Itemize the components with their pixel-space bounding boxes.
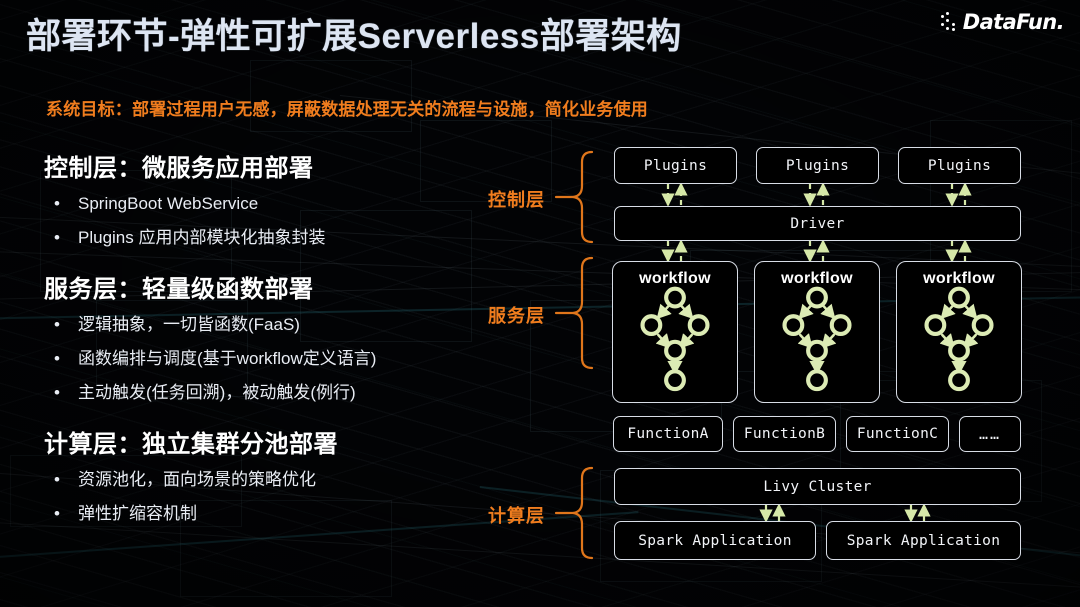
node-spark-application-2[interactable]: Spark Application [826,521,1021,560]
node-label: Plugins [644,158,707,174]
node-label: FunctionA [627,426,708,442]
node-label: Plugins [786,158,849,174]
node-livy-cluster[interactable]: Livy Cluster [614,468,1021,505]
layer-label-control: 控制层 [488,186,545,212]
node-workflow-2[interactable]: workflow [754,261,880,403]
node-label: FunctionB [744,426,825,442]
node-label: Spark Application [638,533,792,549]
node-plugins-1[interactable]: Plugins [614,147,737,184]
node-label: …… [979,425,1001,443]
workflow-dag-icon [755,262,879,402]
node-workflow-3[interactable]: workflow [896,261,1022,403]
node-driver[interactable]: Driver [614,206,1021,241]
layer-label-compute: 计算层 [488,502,545,528]
node-plugins-2[interactable]: Plugins [756,147,879,184]
architecture-diagram: 控制层 服务层 计算层 Plugins Plugins Plugins Driv… [0,0,1080,607]
node-function-c[interactable]: FunctionC [846,416,949,452]
node-workflow-1[interactable]: workflow [612,261,738,403]
node-function-more[interactable]: …… [959,416,1021,452]
node-label: Plugins [928,158,991,174]
slide-canvas: 部署环节-弹性可扩展Serverless部署架构 DataFun. 系统目标：部… [0,0,1080,607]
node-spark-application-1[interactable]: Spark Application [614,521,816,560]
node-label: Livy Cluster [763,479,871,495]
node-function-b[interactable]: FunctionB [733,416,836,452]
node-label: Driver [790,216,844,232]
node-label: Spark Application [847,533,1001,549]
node-plugins-3[interactable]: Plugins [898,147,1021,184]
node-function-a[interactable]: FunctionA [613,416,723,452]
node-label: FunctionC [857,426,938,442]
workflow-dag-icon [897,262,1021,402]
layer-brace [556,152,592,558]
workflow-dag-icon [613,262,737,402]
layer-label-service: 服务层 [488,302,545,328]
